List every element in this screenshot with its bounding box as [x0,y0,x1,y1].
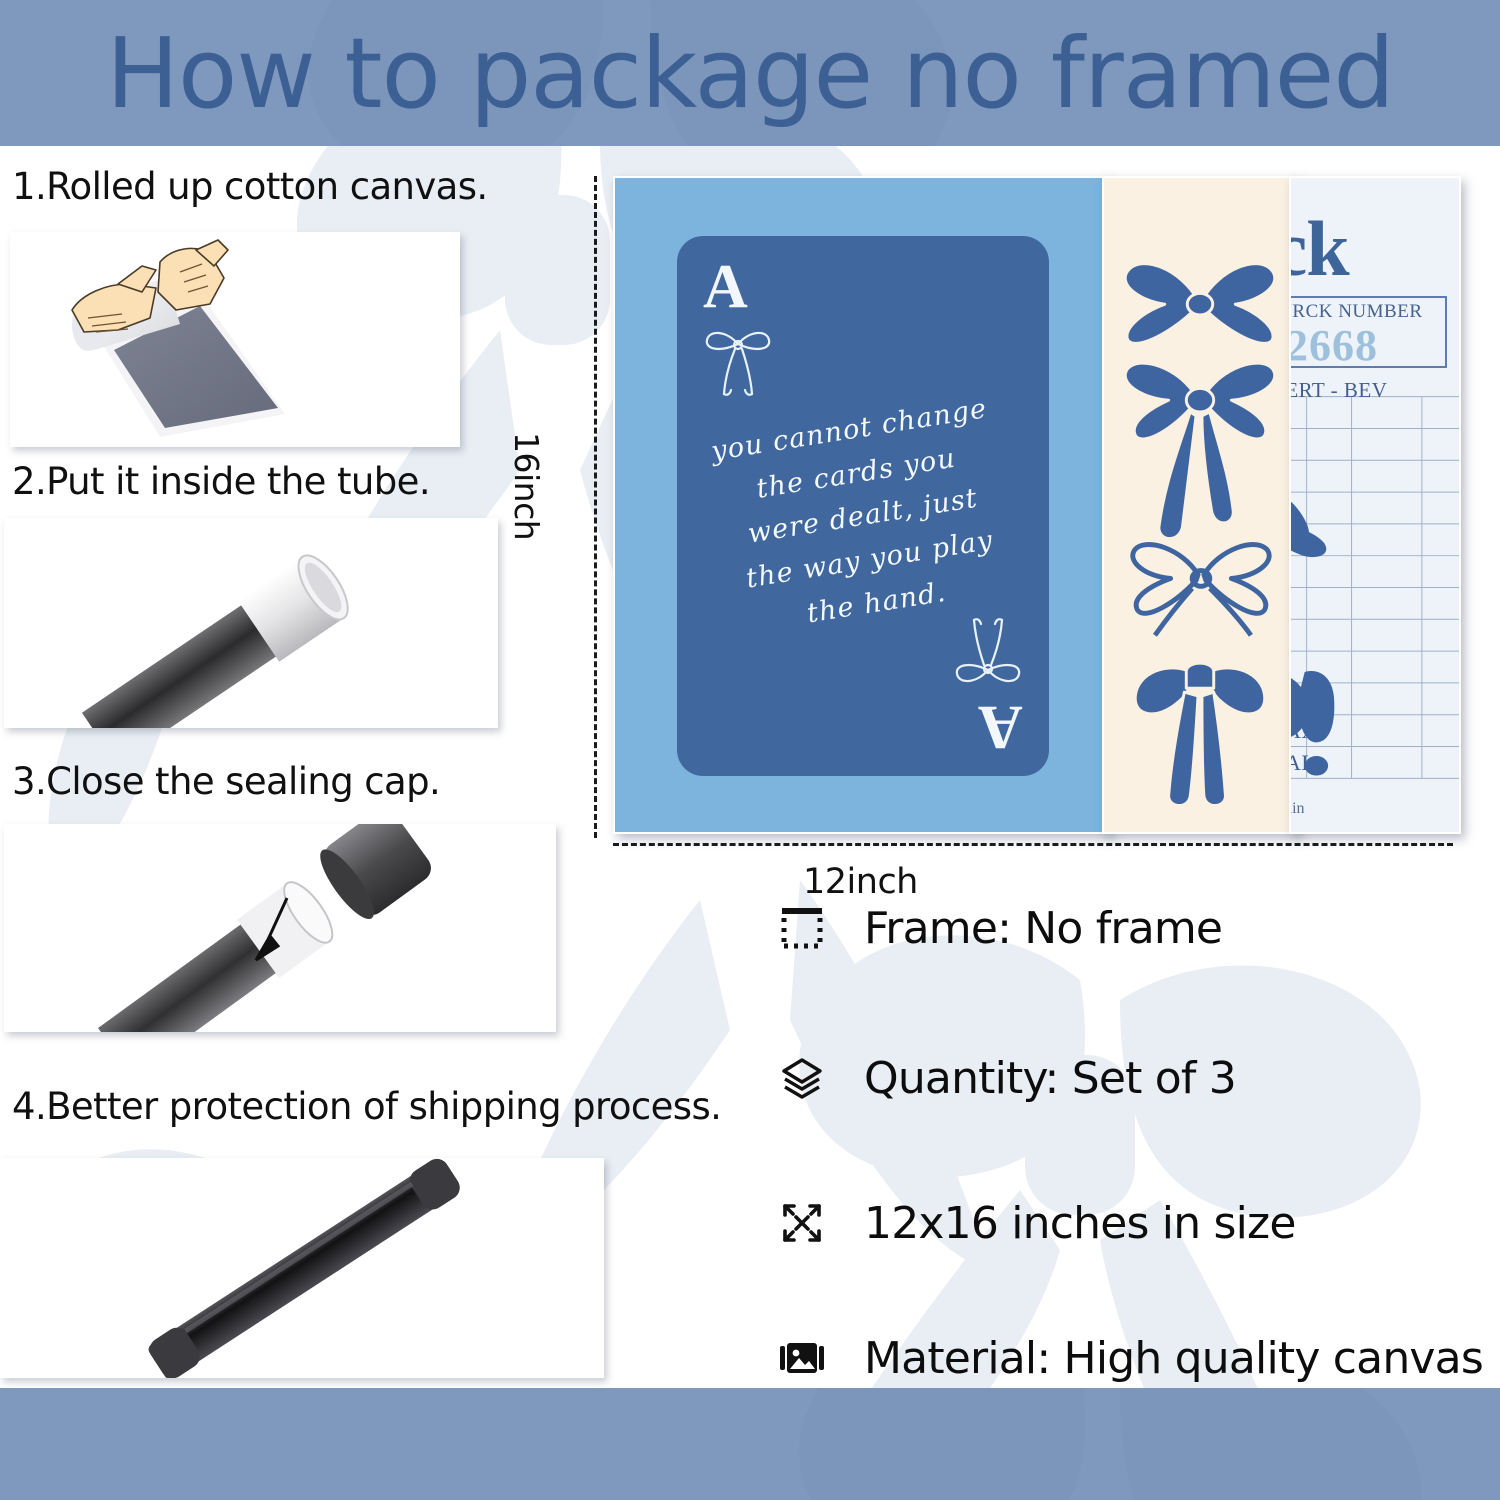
spec-row-size: 12x16 inches in size [774,1195,1296,1251]
header-bar: How to package no framed [0,0,1500,146]
poster-bows[interactable] [1102,176,1298,834]
sealing-cap-shape [312,824,437,926]
bows-artwork [1104,178,1296,832]
tube-body-shape [95,875,341,1032]
step-3-label: 3.Close the sealing cap. [12,760,440,803]
sealed-tube-shape [145,1158,464,1378]
infographic-page: How to package no framed 1.Rolled up cot… [0,0,1500,1500]
poster-group: A you cannot change the cards you [613,176,1463,836]
card-rank-top-left: A [703,256,748,318]
step-1-image [10,232,460,447]
poster-guest-check[interactable]: eck CHRCK NUMBER 92668 SSERT - BEV AX AL… [1289,176,1461,834]
height-dimension-label: 16inch [507,432,546,540]
playing-card-face: A you cannot change the cards you [677,236,1049,776]
bow-outline-top-icon [699,314,777,400]
width-guide-line [613,843,1453,846]
spec-material-text: Material: High quality canvas [864,1333,1483,1384]
check-brush-strokes [1291,178,1459,832]
width-dimension-label: 12inch [803,862,918,902]
bow-outline-bottom-icon [949,614,1027,700]
step-2-label: 2.Put it inside the tube. [12,460,430,503]
open-tube-shape [79,548,357,728]
height-guide-line [594,176,597,838]
image-icon [774,1330,830,1386]
frame-dotted-icon [774,900,830,956]
page-title: How to package no framed [0,2,1500,144]
spec-size-text: 12x16 inches in size [864,1198,1296,1249]
spec-frame-text: Frame: No frame [864,903,1222,954]
step-2-image [4,518,498,728]
footer-bar [0,1388,1500,1500]
expand-arrows-icon [774,1195,830,1251]
card-rank-bottom-right: A [978,696,1023,758]
step-1-label: 1.Rolled up cotton canvas. [12,165,488,208]
step-4-image [0,1158,604,1378]
spec-row-quantity: Quantity: Set of 3 [774,1050,1236,1106]
layers-icon [774,1050,830,1106]
spec-row-frame: Frame: No frame [774,900,1222,956]
spec-quantity-text: Quantity: Set of 3 [864,1053,1236,1104]
poster-playing-card[interactable]: A you cannot change the cards you [613,176,1110,834]
step-4-label: 4.Better protection of shipping process. [12,1085,721,1128]
footer-watermark [0,1388,1500,1500]
spec-row-material: Material: High quality canvas [774,1330,1483,1386]
step-3-image [4,824,556,1032]
